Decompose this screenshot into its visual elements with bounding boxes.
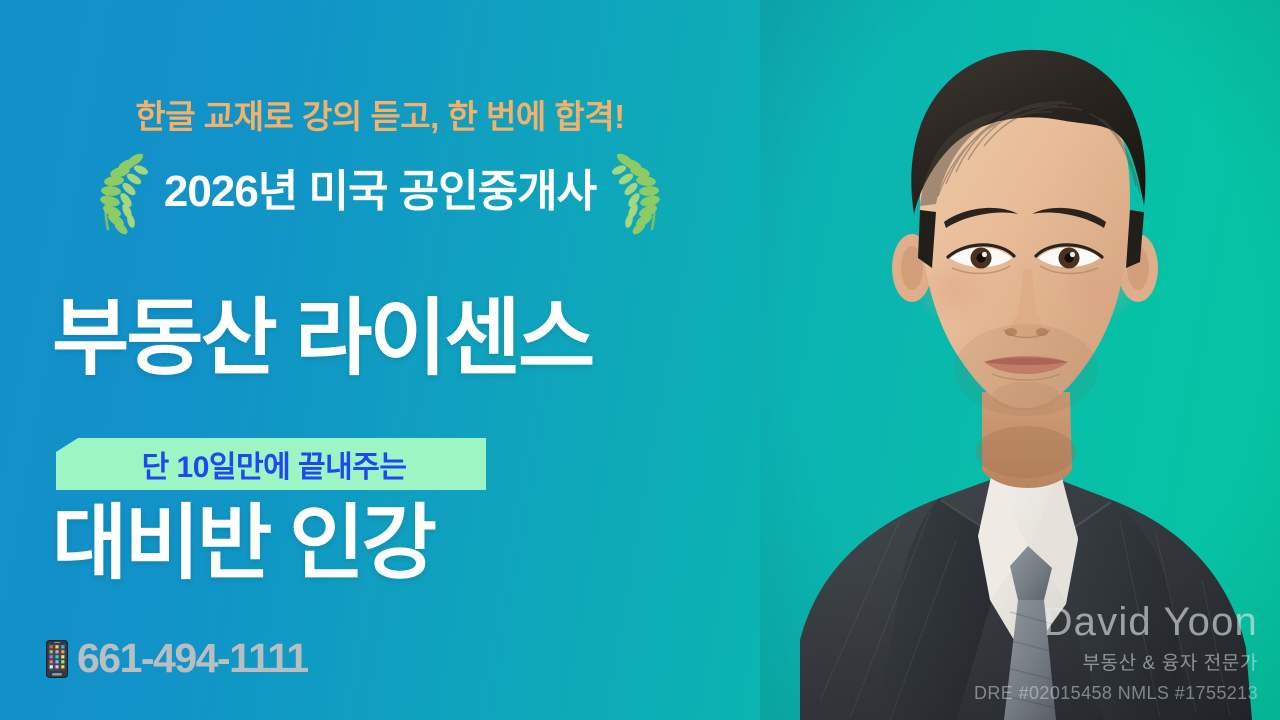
contact-phone[interactable]: 661-494-1111 — [46, 638, 308, 679]
year-title: 2026년 미국 공인중개사 — [164, 170, 596, 214]
phone-number: 661-494-1111 — [77, 638, 308, 679]
portrait-photo: David Yoon 부동산 & 융자 전문가 DRE #02015458 NM… — [760, 0, 1280, 720]
duration-badge: 단 10일만에 끝내주는 — [56, 438, 486, 490]
wreath-title-row: 2026년 미국 공인중개사 — [0, 148, 760, 236]
duration-badge-label: 단 10일만에 끝내주는 — [136, 442, 407, 486]
headline-primary: 부동산 라이센스 — [52, 296, 592, 380]
eyebrow-tagline: 한글 교재로 강의 듣고, 한 번에 합격! — [0, 90, 760, 138]
headline-secondary: 대비반 인강 — [52, 503, 434, 585]
mobile-phone-icon — [46, 640, 68, 678]
laurel-wreath-left-icon — [92, 149, 154, 235]
ad-banner: David Yoon 부동산 & 융자 전문가 DRE #02015458 NM… — [0, 0, 1280, 720]
left-content: 한글 교재로 강의 듣고, 한 번에 합격! — [0, 0, 790, 720]
laurel-wreath-right-icon — [606, 149, 668, 235]
